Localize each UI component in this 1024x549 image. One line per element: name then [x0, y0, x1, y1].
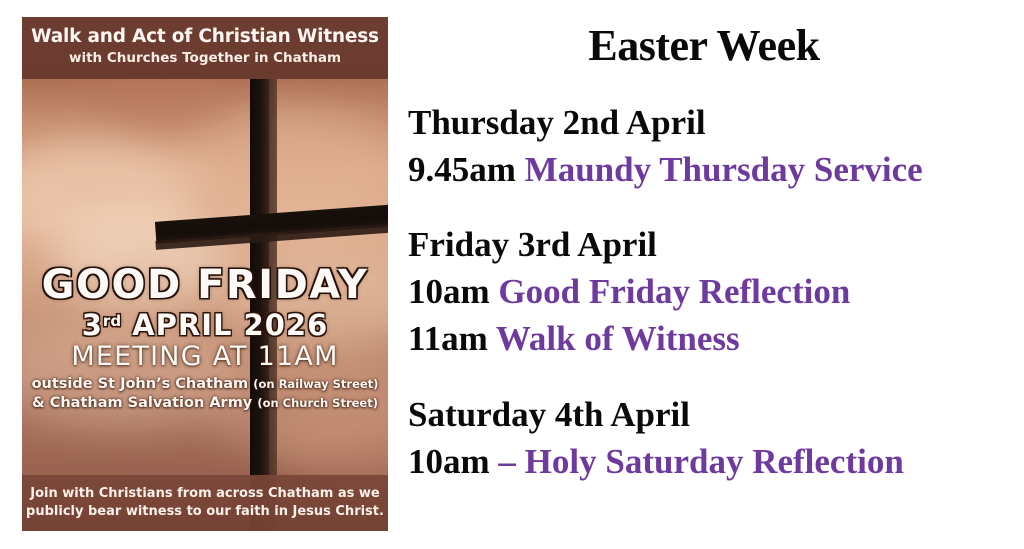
schedule-day-group: Saturday 4th April 10am – Holy Saturday …	[408, 392, 1024, 485]
good-friday-poster: Walk and Act of Christian Witness with C…	[22, 17, 388, 531]
poster-top-banner: Walk and Act of Christian Witness with C…	[22, 17, 388, 79]
poster-date-day: 3	[82, 308, 103, 342]
poster-banner-title: Walk and Act of Christian Witness	[22, 25, 388, 49]
schedule-event-row: 10am – Holy Saturday Reflection	[408, 438, 1024, 485]
event-name: Maundy Thursday Service	[525, 150, 923, 189]
poster-footer-line-2: publicly bear witness to our faith in Je…	[22, 503, 388, 521]
schedule-day-heading: Friday 3rd April	[408, 222, 1024, 268]
poster-date-month-year: APRIL 2026	[121, 308, 328, 342]
poster-bottom-banner: Join with Christians from across Chatham…	[22, 475, 388, 531]
poster-address-line-1: outside St John’s Chatham (on Railway St…	[22, 375, 388, 394]
event-time: 10am	[408, 442, 490, 481]
poster-meeting-time: MEETING AT 11AM	[22, 341, 388, 372]
poster-headline-block: GOOD FRIDAY 3rd APRIL 2026 MEETING AT 11…	[22, 265, 388, 413]
poster-address-main: outside St John’s Chatham	[32, 376, 249, 392]
schedule-day-group: Friday 3rd April 10am Good Friday Reflec…	[408, 222, 1024, 362]
event-name: Holy Saturday Reflection	[525, 442, 904, 481]
easter-week-schedule: Easter Week Thursday 2nd April 9.45am Ma…	[404, 0, 1024, 549]
schedule-day-group: Thursday 2nd April 9.45am Maundy Thursda…	[408, 100, 1024, 193]
schedule-day-heading: Saturday 4th April	[408, 392, 1024, 438]
schedule-event-row: 9.45am Maundy Thursday Service	[408, 146, 1024, 193]
schedule-event-row: 11am Walk of Witness	[408, 315, 1024, 362]
schedule-day-heading: Thursday 2nd April	[408, 100, 1024, 146]
poster-address-main: & Chatham Salvation Army	[32, 395, 252, 411]
event-name: Walk of Witness	[496, 319, 740, 358]
schedule-title: Easter Week	[404, 21, 1004, 71]
event-separator: –	[498, 442, 516, 481]
event-time: 9.45am	[408, 150, 516, 189]
poster-banner-subtitle: with Churches Together in Chatham	[22, 49, 388, 68]
event-time: 11am	[408, 319, 488, 358]
event-name: Good Friday Reflection	[498, 272, 850, 311]
poster-address-line-2: & Chatham Salvation Army (on Church Stre…	[22, 394, 388, 413]
poster-event-date: 3rd APRIL 2026	[22, 305, 388, 341]
event-time: 10am	[408, 272, 490, 311]
poster-date-ordinal: rd	[103, 312, 121, 330]
schedule-event-row: 10am Good Friday Reflection	[408, 268, 1024, 315]
poster-footer-line-1: Join with Christians from across Chatham…	[22, 485, 388, 503]
poster-event-title: GOOD FRIDAY	[22, 265, 388, 305]
poster-address-note: (on Railway Street)	[253, 377, 378, 391]
poster-address-note: (on Church Street)	[257, 396, 378, 410]
